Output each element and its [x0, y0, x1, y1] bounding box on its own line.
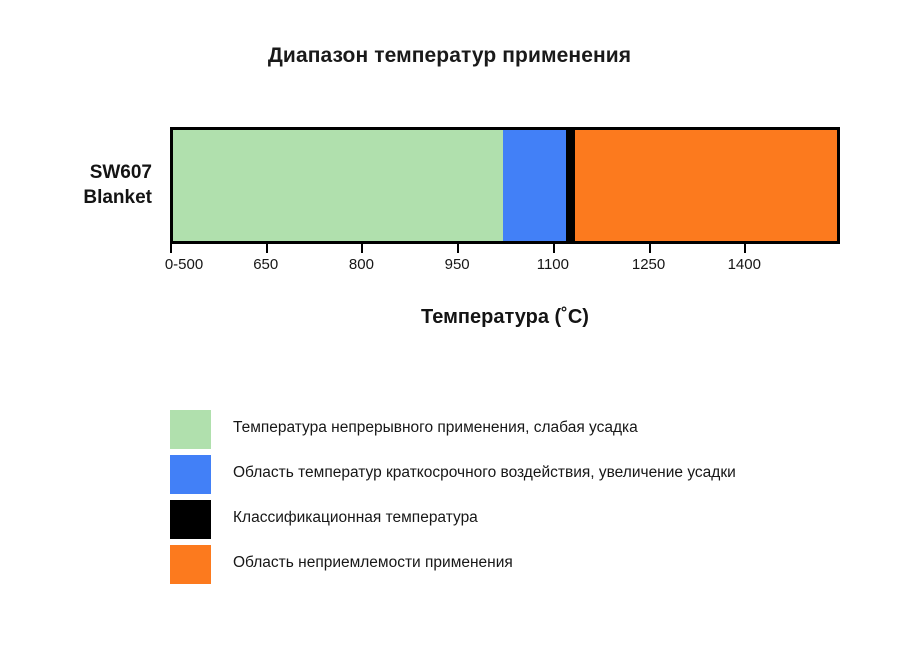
x-tick-mark: [457, 244, 459, 253]
x-tick-label: 800: [349, 256, 374, 273]
stacked-bar: [173, 130, 837, 241]
category-label-line-2: Blanket: [0, 185, 152, 210]
x-tick-label: 1100: [537, 256, 569, 273]
legend-item-label: Область температур краткосрочного воздей…: [233, 464, 736, 482]
legend-item: Область неприемлемости применения: [170, 545, 870, 590]
legend-swatch-orange: [170, 545, 211, 584]
legend-item-label: Классификационная температура: [233, 509, 478, 527]
x-tick-mark: [553, 244, 555, 253]
legend-item-label: Температура непрерывного применения, сла…: [233, 419, 638, 437]
bar-segment-continuous-use-temperature: [173, 130, 503, 241]
x-tick-label: 0-500: [165, 256, 203, 273]
x-tick-label: 1250: [632, 256, 665, 273]
x-axis-title: Температура (˚С): [170, 306, 840, 329]
x-tick-label: 650: [253, 256, 278, 273]
category-axis-label: SW607 Blanket: [0, 160, 152, 210]
legend-swatch-black: [170, 500, 211, 539]
legend-item-label: Область неприемлемости применения: [233, 554, 513, 572]
x-axis-tick-marks: [170, 244, 840, 253]
legend-item: Температура непрерывного применения, сла…: [170, 410, 870, 455]
x-tick-label: 1400: [728, 256, 761, 273]
plot-area: [170, 127, 840, 244]
legend-swatch-green: [170, 410, 211, 449]
bar-segment-classification-temperature: [566, 130, 574, 241]
bar-segment-unacceptable-range: [575, 130, 837, 241]
x-tick-mark: [170, 244, 172, 253]
chart-title: Диапазон температур применения: [0, 44, 899, 68]
x-tick-mark: [649, 244, 651, 253]
category-label-line-1: SW607: [90, 162, 152, 183]
legend-swatch-blue: [170, 455, 211, 494]
x-tick-mark: [266, 244, 268, 253]
legend-item: Область температур краткосрочного воздей…: [170, 455, 870, 500]
x-tick-label: 950: [445, 256, 470, 273]
x-axis-tick-labels: 0-500650800950110012501400: [0, 256, 899, 280]
x-tick-mark: [361, 244, 363, 253]
chart-legend: Температура непрерывного применения, сла…: [170, 410, 870, 590]
bar-segment-short-term-exposure: [503, 130, 566, 241]
x-tick-mark: [744, 244, 746, 253]
legend-item: Классификационная температура: [170, 500, 870, 545]
